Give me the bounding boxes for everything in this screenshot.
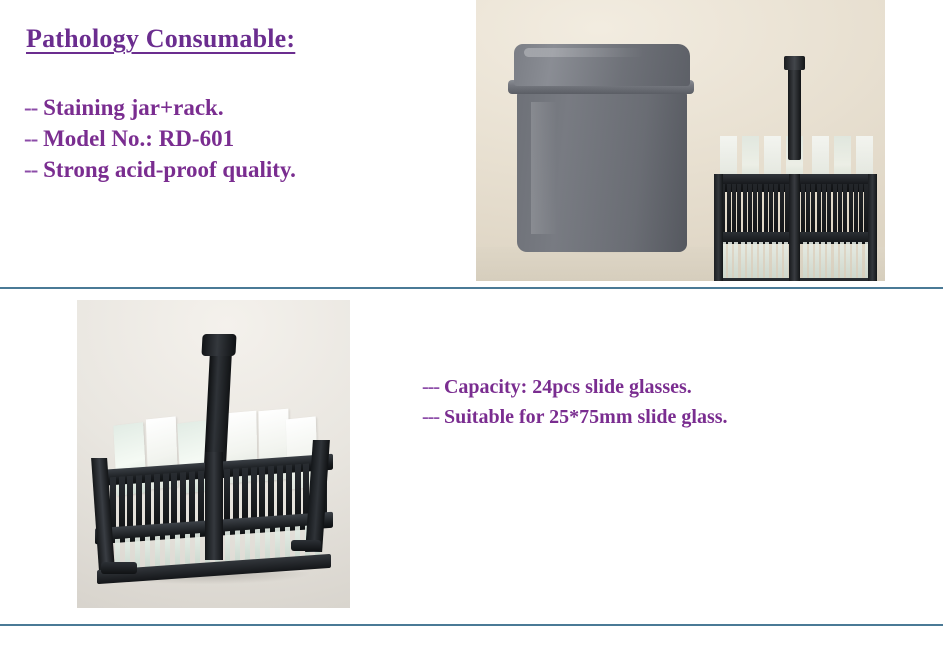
spec-item-3: -- Strong acid-proof quality.	[24, 154, 444, 185]
dash-marker: --	[24, 95, 37, 120]
dash-marker: ---	[422, 376, 439, 398]
slide-rack-front-view	[714, 56, 877, 259]
section-divider-bottom	[0, 624, 943, 626]
spec-item-1-text: Staining jar+rack.	[43, 95, 224, 120]
rack-left-post	[714, 174, 723, 281]
slide-rack-photo	[77, 300, 350, 608]
rack-right-post	[868, 174, 877, 281]
capacity-item-1-text: Capacity: 24pcs slide glasses.	[444, 376, 692, 398]
slide-glass-edge	[821, 242, 825, 281]
rack-handle-cap	[201, 334, 236, 356]
slide-glass-edge	[784, 242, 788, 281]
rack-handle	[788, 56, 801, 160]
spec-item-1: -- Staining jar+rack.	[24, 92, 444, 123]
capacity-list: --- Capacity: 24pcs slide glasses. --- S…	[422, 372, 892, 432]
capacity-item-2-text: Suitable for 25*75mm slide glass.	[444, 406, 728, 428]
slide-glass-edge	[778, 242, 782, 281]
page-title: Pathology Consumable:	[26, 24, 295, 54]
slide-glass-edge	[846, 242, 850, 281]
staining-jar-and-rack-photo	[476, 0, 885, 281]
slide-glass-edge	[852, 242, 856, 281]
spec-list: -- Staining jar+rack. -- Model No.: RD-6…	[24, 92, 444, 185]
slide-glass-edge	[815, 242, 819, 281]
slide-glass-edge	[827, 242, 831, 281]
slide-glass-edge	[840, 242, 844, 281]
slide-glass-edge	[772, 242, 776, 281]
slide-rack-angled-view	[95, 334, 333, 594]
slide-glass-edge	[834, 242, 838, 281]
rack-foot-left	[101, 562, 137, 574]
slide-glass-edge	[753, 242, 757, 281]
dash-marker: --	[24, 157, 37, 182]
jar-body	[517, 92, 687, 252]
dash-marker: --	[24, 126, 37, 151]
slide-glass-edge	[759, 242, 763, 281]
rack-center-post	[789, 174, 800, 281]
jar-lid	[514, 44, 690, 86]
staining-jar	[508, 44, 694, 252]
slide-glass-edge	[747, 242, 751, 281]
section-divider-top	[0, 287, 943, 289]
slide-glass-edge	[734, 242, 738, 281]
rack-foot-right	[291, 540, 321, 551]
slide-glass-edge	[809, 242, 813, 281]
slide-glass-edge	[858, 242, 862, 281]
spec-item-2-text: Model No.: RD-601	[43, 126, 234, 151]
slide-glass-edge	[803, 242, 807, 281]
slide-glass-edge	[765, 242, 769, 281]
spec-item-2: -- Model No.: RD-601	[24, 123, 444, 154]
capacity-item-2: --- Suitable for 25*75mm slide glass.	[422, 402, 892, 432]
spec-item-3-text: Strong acid-proof quality.	[43, 157, 296, 182]
slide-page: Pathology Consumable: -- Staining jar+ra…	[0, 0, 943, 646]
rack-handle-cap	[784, 56, 805, 70]
slide-glass-edge	[728, 242, 732, 281]
slide-glass-edge	[741, 242, 745, 281]
rack-center-post	[205, 452, 223, 560]
dash-marker: ---	[422, 406, 439, 428]
capacity-item-1: --- Capacity: 24pcs slide glasses.	[422, 372, 892, 402]
